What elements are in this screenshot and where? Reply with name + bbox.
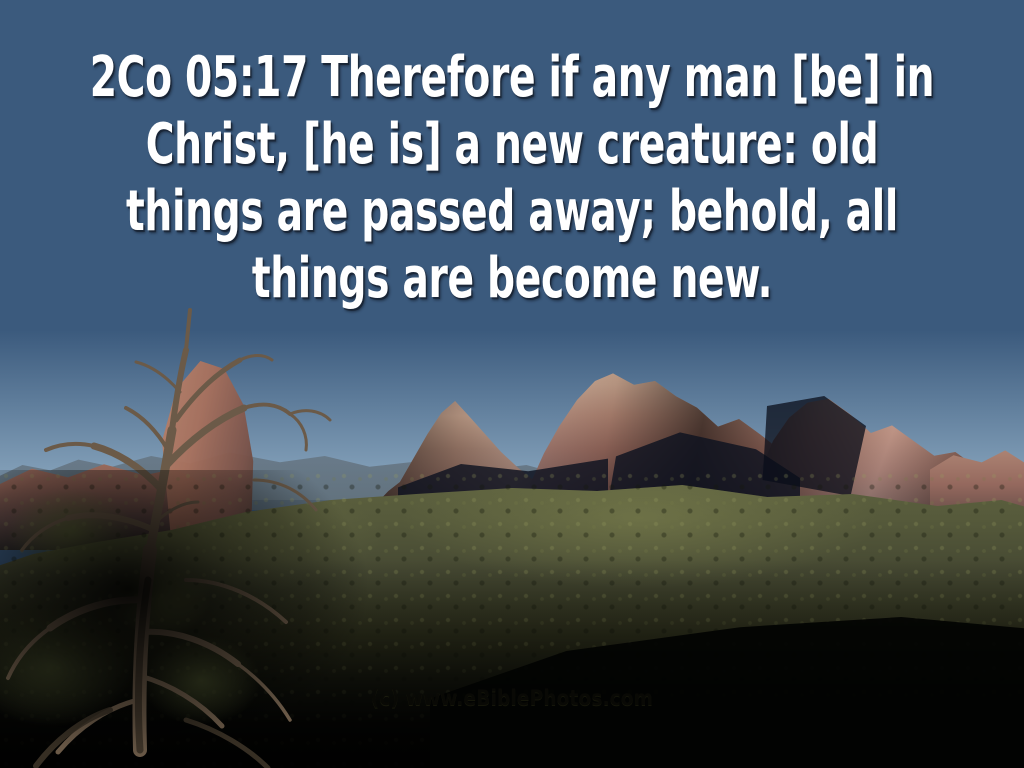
verse-text: 2Co 05:17 Therefore if any man [be] in C… — [40, 44, 984, 312]
foreground-shadow-mass — [0, 470, 430, 768]
scripture-photo: 2Co 05:17 Therefore if any man [be] in C… — [0, 0, 1024, 768]
watermark-text: (c) www.eBiblePhotos.com — [61, 686, 962, 710]
